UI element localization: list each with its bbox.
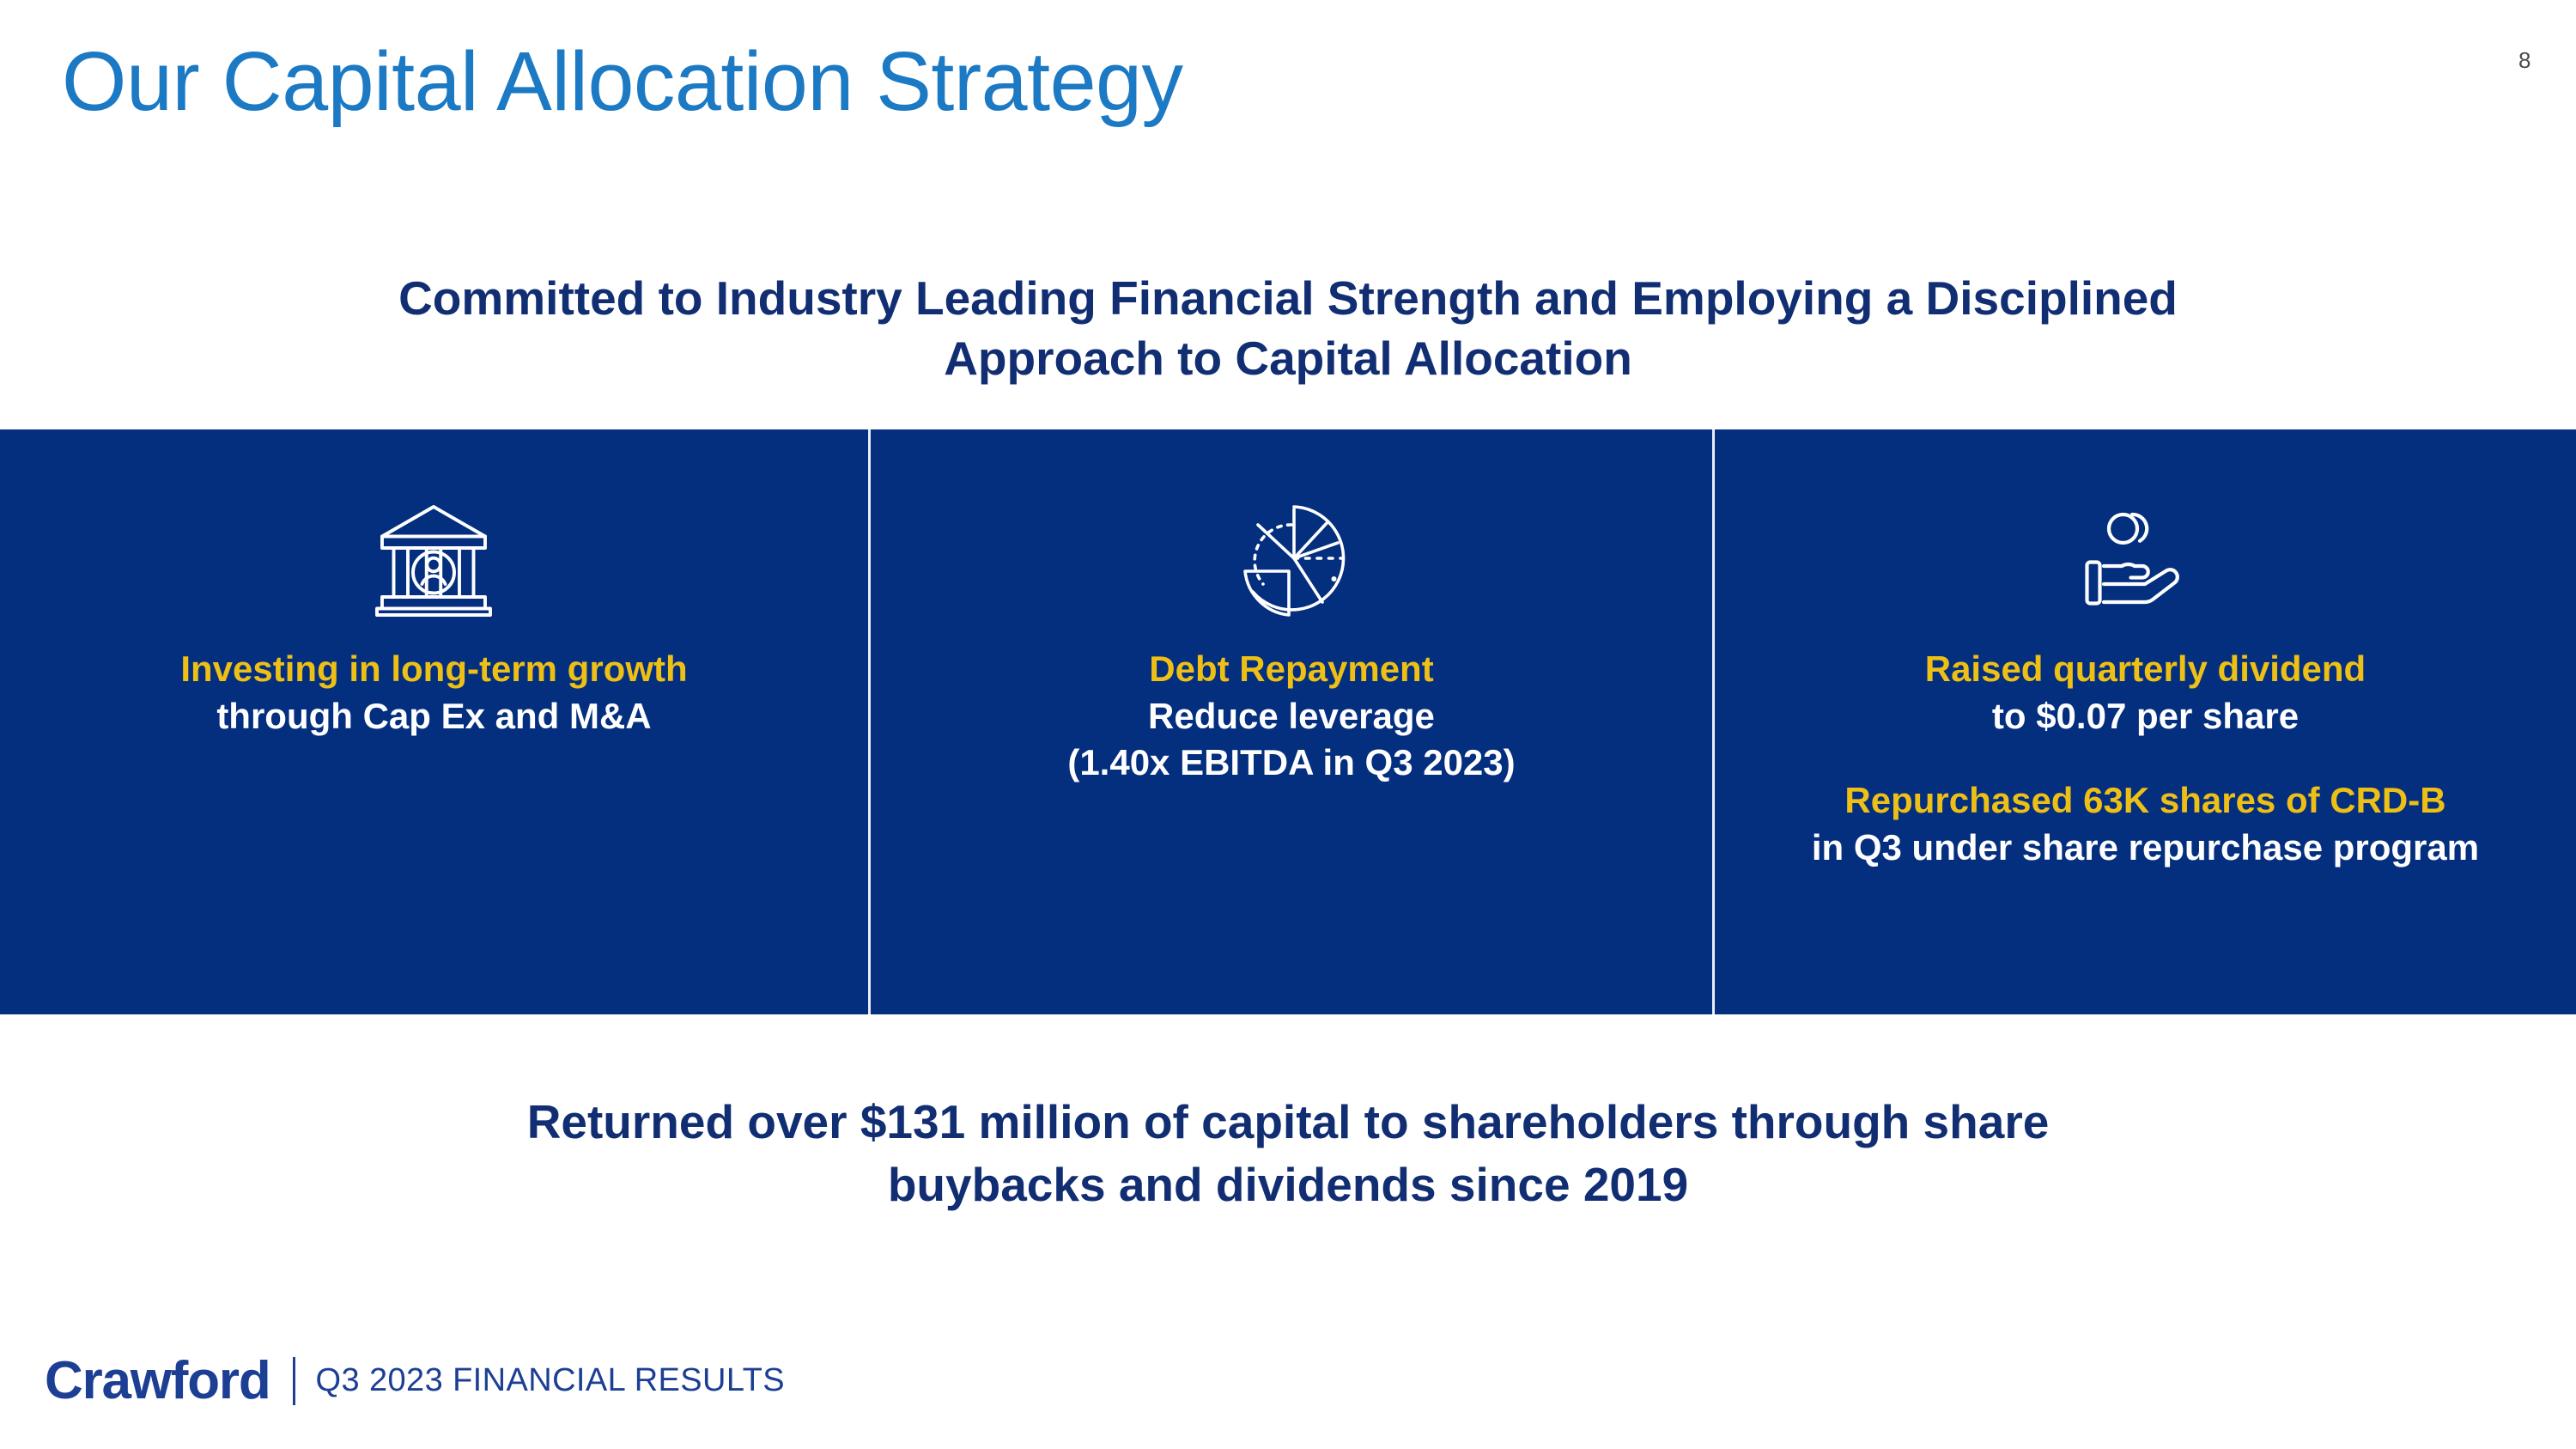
panel-dividend-highlight-2: Repurchased 63K shares of CRD-B <box>1812 777 2479 825</box>
panel-dividend-body-1: to $0.07 per share <box>1812 693 2479 740</box>
panel-dividend-body-2: in Q3 under share repurchase program <box>1812 825 2479 872</box>
panel-investing-text: Investing in long-term growth through Ca… <box>163 646 704 740</box>
subtitle-line-2: Approach to Capital Allocation <box>163 328 2413 388</box>
panel-debt-body-1: Reduce leverage <box>1067 693 1515 740</box>
bottom-statement: Returned over $131 million of capital to… <box>258 1091 2318 1216</box>
panel-dividend-spacer <box>1812 740 2479 777</box>
panel-investing-highlight: Investing in long-term growth <box>180 646 687 693</box>
bottom-statement-line-1: Returned over $131 million of capital to… <box>258 1091 2318 1154</box>
page-number: 8 <box>2518 47 2531 74</box>
slide-subtitle: Committed to Industry Leading Financial … <box>163 268 2413 389</box>
hand-with-coins-icon <box>2081 486 2209 630</box>
capital-allocation-panels: Investing in long-term growth through Ca… <box>0 429 2576 1014</box>
panel-investing: Investing in long-term growth through Ca… <box>0 429 868 1014</box>
panel-investing-body: through Cap Ex and M&A <box>180 693 687 740</box>
slide-footer: Crawford Q3 2023 FINANCIAL RESULTS <box>45 1350 785 1411</box>
panel-dividend: Raised quarterly dividend to $0.07 per s… <box>1715 429 2576 1014</box>
pie-chart-icon <box>1227 486 1356 630</box>
subtitle-line-1: Committed to Industry Leading Financial … <box>163 268 2413 328</box>
panel-debt-repayment-text: Debt Repayment Reduce leverage (1.40x EB… <box>1050 646 1532 787</box>
footer-separator <box>293 1357 295 1405</box>
panel-debt-body-2: (1.40x EBITDA in Q3 2023) <box>1067 740 1515 787</box>
panel-dividend-text: Raised quarterly dividend to $0.07 per s… <box>1795 646 2496 871</box>
panel-debt-highlight: Debt Repayment <box>1067 646 1515 693</box>
bank-building-icon <box>369 486 498 630</box>
bottom-statement-line-2: buybacks and dividends since 2019 <box>258 1154 2318 1216</box>
footer-caption: Q3 2023 FINANCIAL RESULTS <box>316 1362 785 1399</box>
page-title: Our Capital Allocation Strategy <box>62 38 1182 125</box>
panel-debt-repayment: Debt Repayment Reduce leverage (1.40x EB… <box>871 429 1712 1014</box>
crawford-logo: Crawford <box>45 1350 270 1411</box>
panel-dividend-highlight-1: Raised quarterly dividend <box>1812 646 2479 693</box>
